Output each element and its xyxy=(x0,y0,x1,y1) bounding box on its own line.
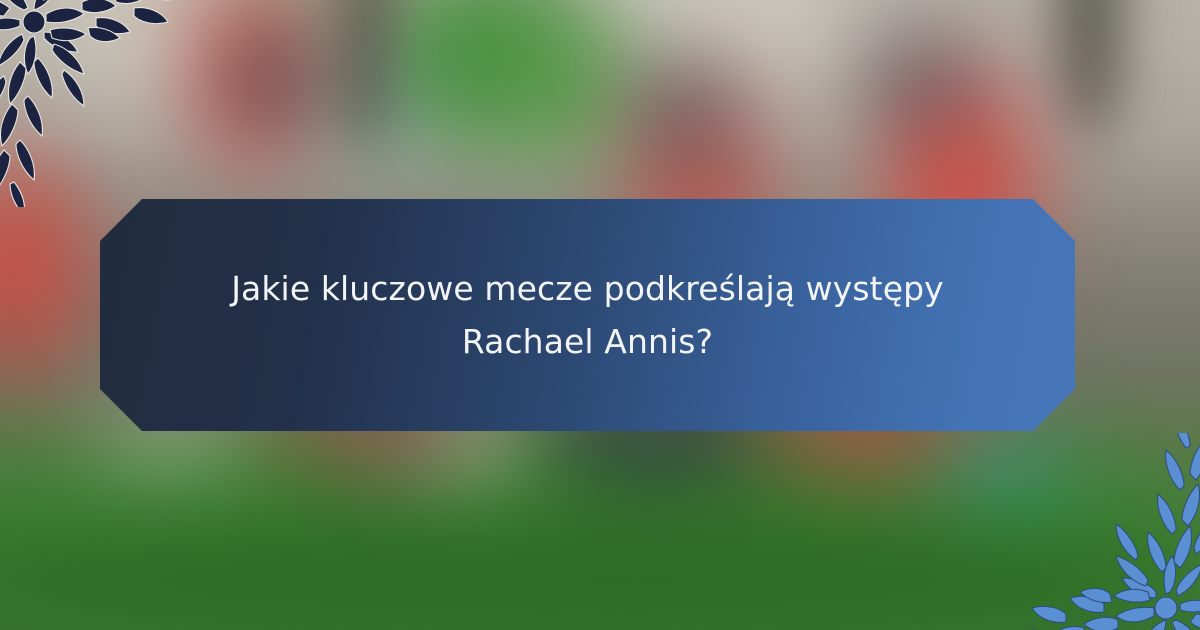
headline-banner: Jakie kluczowe mecze podkreślają występy… xyxy=(100,199,1075,431)
background-player-jersey-blob xyxy=(0,155,90,375)
background-player-head-blob xyxy=(230,40,325,120)
page-title: Jakie kluczowe mecze podkreślają występy… xyxy=(138,262,1038,369)
background-foliage-blob xyxy=(500,35,640,155)
background-teal-blob xyxy=(930,420,1070,530)
background-teal-blob xyxy=(320,60,440,160)
social-card: Jakie kluczowe mecze podkreślają występy… xyxy=(0,0,1200,630)
background-player-head-blob xyxy=(640,70,730,148)
background-pole-blob xyxy=(1058,0,1122,140)
background-player-head-blob xyxy=(875,45,965,120)
